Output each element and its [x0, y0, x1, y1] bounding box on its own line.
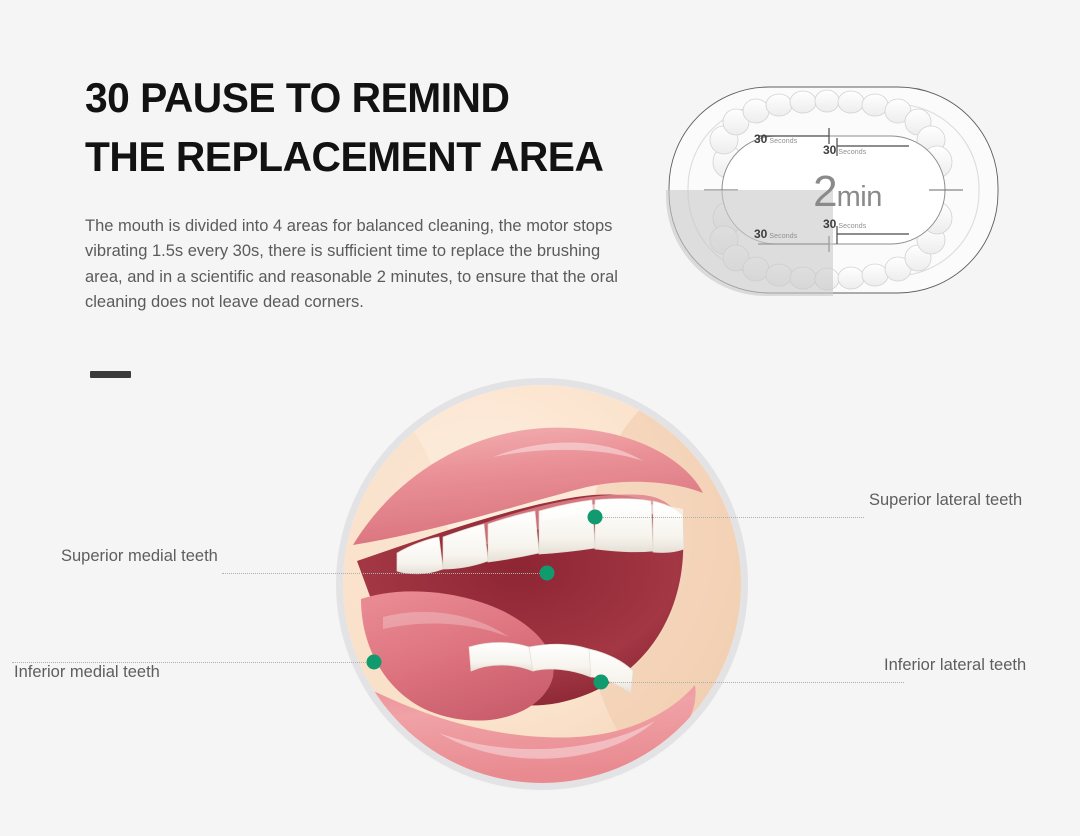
body-paragraph: The mouth is divided into 4 areas for ba…	[85, 214, 630, 316]
hotspot-superior-medial[interactable]	[540, 566, 555, 581]
dental-arch-timer-diagram: 2 min 30 Seconds 30 Seconds 30 Seconds 3…	[666, 84, 1001, 296]
dental-arch-graphic	[666, 84, 1001, 296]
headline-line-2: THE REPLACEMENT AREA	[85, 127, 648, 186]
callout-superior-medial: Superior medial teeth	[61, 547, 218, 566]
mouth-photo-circle	[343, 385, 741, 783]
hotspot-inferior-lateral[interactable]	[594, 675, 609, 690]
shaded-quadrant-bottom-left	[666, 190, 833, 296]
leader-inferior-lateral	[604, 682, 904, 683]
hotspot-superior-lateral[interactable]	[588, 510, 603, 525]
section-divider-dash	[90, 371, 131, 378]
leader-superior-medial	[222, 573, 552, 574]
leader-superior-lateral	[602, 517, 864, 518]
infographic-page: { "background_color": "#f5f5f5", "headli…	[0, 0, 1080, 836]
hotspot-inferior-medial[interactable]	[367, 655, 382, 670]
headline-block: 30 PAUSE TO REMIND THE REPLACEMENT AREA	[85, 68, 665, 186]
callout-inferior-medial: Inferior medial teeth	[14, 663, 160, 682]
callout-inferior-lateral: Inferior lateral teeth	[884, 656, 1026, 675]
mouth-photo-frame	[343, 385, 741, 783]
callout-superior-lateral: Superior lateral teeth	[869, 491, 1022, 510]
headline-line-1: 30 PAUSE TO REMIND	[85, 68, 648, 127]
open-mouth-illustration	[343, 385, 741, 783]
